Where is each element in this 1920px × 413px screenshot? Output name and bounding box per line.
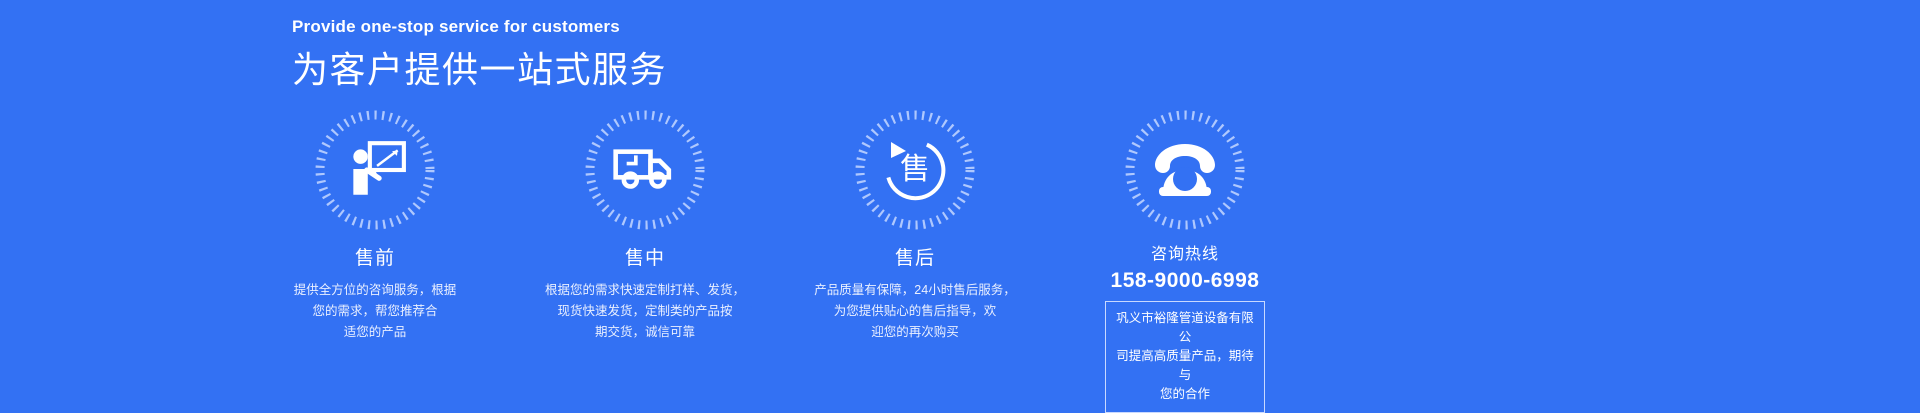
column-title: 售中 bbox=[625, 246, 665, 272]
icon-ring-hotline bbox=[1123, 108, 1247, 232]
telephone-icon bbox=[1149, 140, 1221, 200]
desc-line: 提供全方位的咨询服务，根据 bbox=[260, 280, 490, 301]
column-title: 售后 bbox=[895, 246, 935, 272]
desc-line: 现货快速发货，定制类的产品按 bbox=[530, 301, 760, 322]
heading-block: Provide one-stop service for customers 为… bbox=[292, 16, 1192, 92]
company-line: 您的合作 bbox=[1114, 385, 1256, 404]
service-columns: 售前 提供全方位的咨询服务，根据 您的需求，帮您推荐合 适您的产品 bbox=[240, 108, 1680, 413]
heading-english: Provide one-stop service for customers bbox=[292, 16, 1192, 38]
company-info-box: 巩义市裕隆管道设备有限公 司提高高质量产品，期待与 您的合作 bbox=[1105, 301, 1265, 413]
icon-ring-presale bbox=[313, 108, 437, 232]
desc-line: 迎您的再次购买 bbox=[800, 322, 1030, 343]
column-description: 根据您的需求快速定制打样、发货， 现货快速发货，定制类的产品按 期交货，诚信可靠 bbox=[530, 280, 760, 343]
icon-ring-aftersale: 售 bbox=[853, 108, 977, 232]
service-banner: Provide one-stop service for customers 为… bbox=[0, 0, 1920, 413]
service-column-aftersale[interactable]: 售 售后 产品质量有保障，24小时售后服务， 为您提供贴心的售后指导，欢 迎您的… bbox=[780, 108, 1050, 413]
service-column-insale[interactable]: 售中 根据您的需求快速定制打样、发货， 现货快速发货，定制类的产品按 期交货，诚… bbox=[510, 108, 780, 413]
column-title: 售前 bbox=[355, 246, 395, 272]
desc-line: 根据您的需求快速定制打样、发货， bbox=[530, 280, 760, 301]
heading-chinese: 为客户提供一站式服务 bbox=[292, 48, 1192, 92]
service-column-hotline[interactable]: 咨询热线 158-9000-6998 巩义市裕隆管道设备有限公 司提高高质量产品… bbox=[1050, 108, 1320, 413]
hotline-phone-number[interactable]: 158-9000-6998 bbox=[1111, 268, 1260, 294]
hotline-title: 咨询热线 bbox=[1151, 244, 1219, 266]
desc-line: 适您的产品 bbox=[260, 322, 490, 343]
presenter-board-icon bbox=[342, 137, 408, 203]
desc-line: 为您提供贴心的售后指导，欢 bbox=[800, 301, 1030, 322]
company-line: 巩义市裕隆管道设备有限公 bbox=[1114, 309, 1256, 347]
delivery-truck-clock-icon bbox=[612, 137, 678, 203]
desc-line: 您的需求，帮您推荐合 bbox=[260, 301, 490, 322]
column-description: 提供全方位的咨询服务，根据 您的需求，帮您推荐合 适您的产品 bbox=[260, 280, 490, 343]
icon-ring-insale bbox=[583, 108, 707, 232]
desc-line: 产品质量有保障，24小时售后服务， bbox=[800, 280, 1030, 301]
company-line: 司提高高质量产品，期待与 bbox=[1114, 347, 1256, 385]
service-column-presale[interactable]: 售前 提供全方位的咨询服务，根据 您的需求，帮您推荐合 适您的产品 bbox=[240, 108, 510, 413]
desc-line: 期交货，诚信可靠 bbox=[530, 322, 760, 343]
column-description: 产品质量有保障，24小时售后服务， 为您提供贴心的售后指导，欢 迎您的再次购买 bbox=[800, 280, 1030, 343]
after-sales-glyph: 售 bbox=[879, 134, 951, 206]
